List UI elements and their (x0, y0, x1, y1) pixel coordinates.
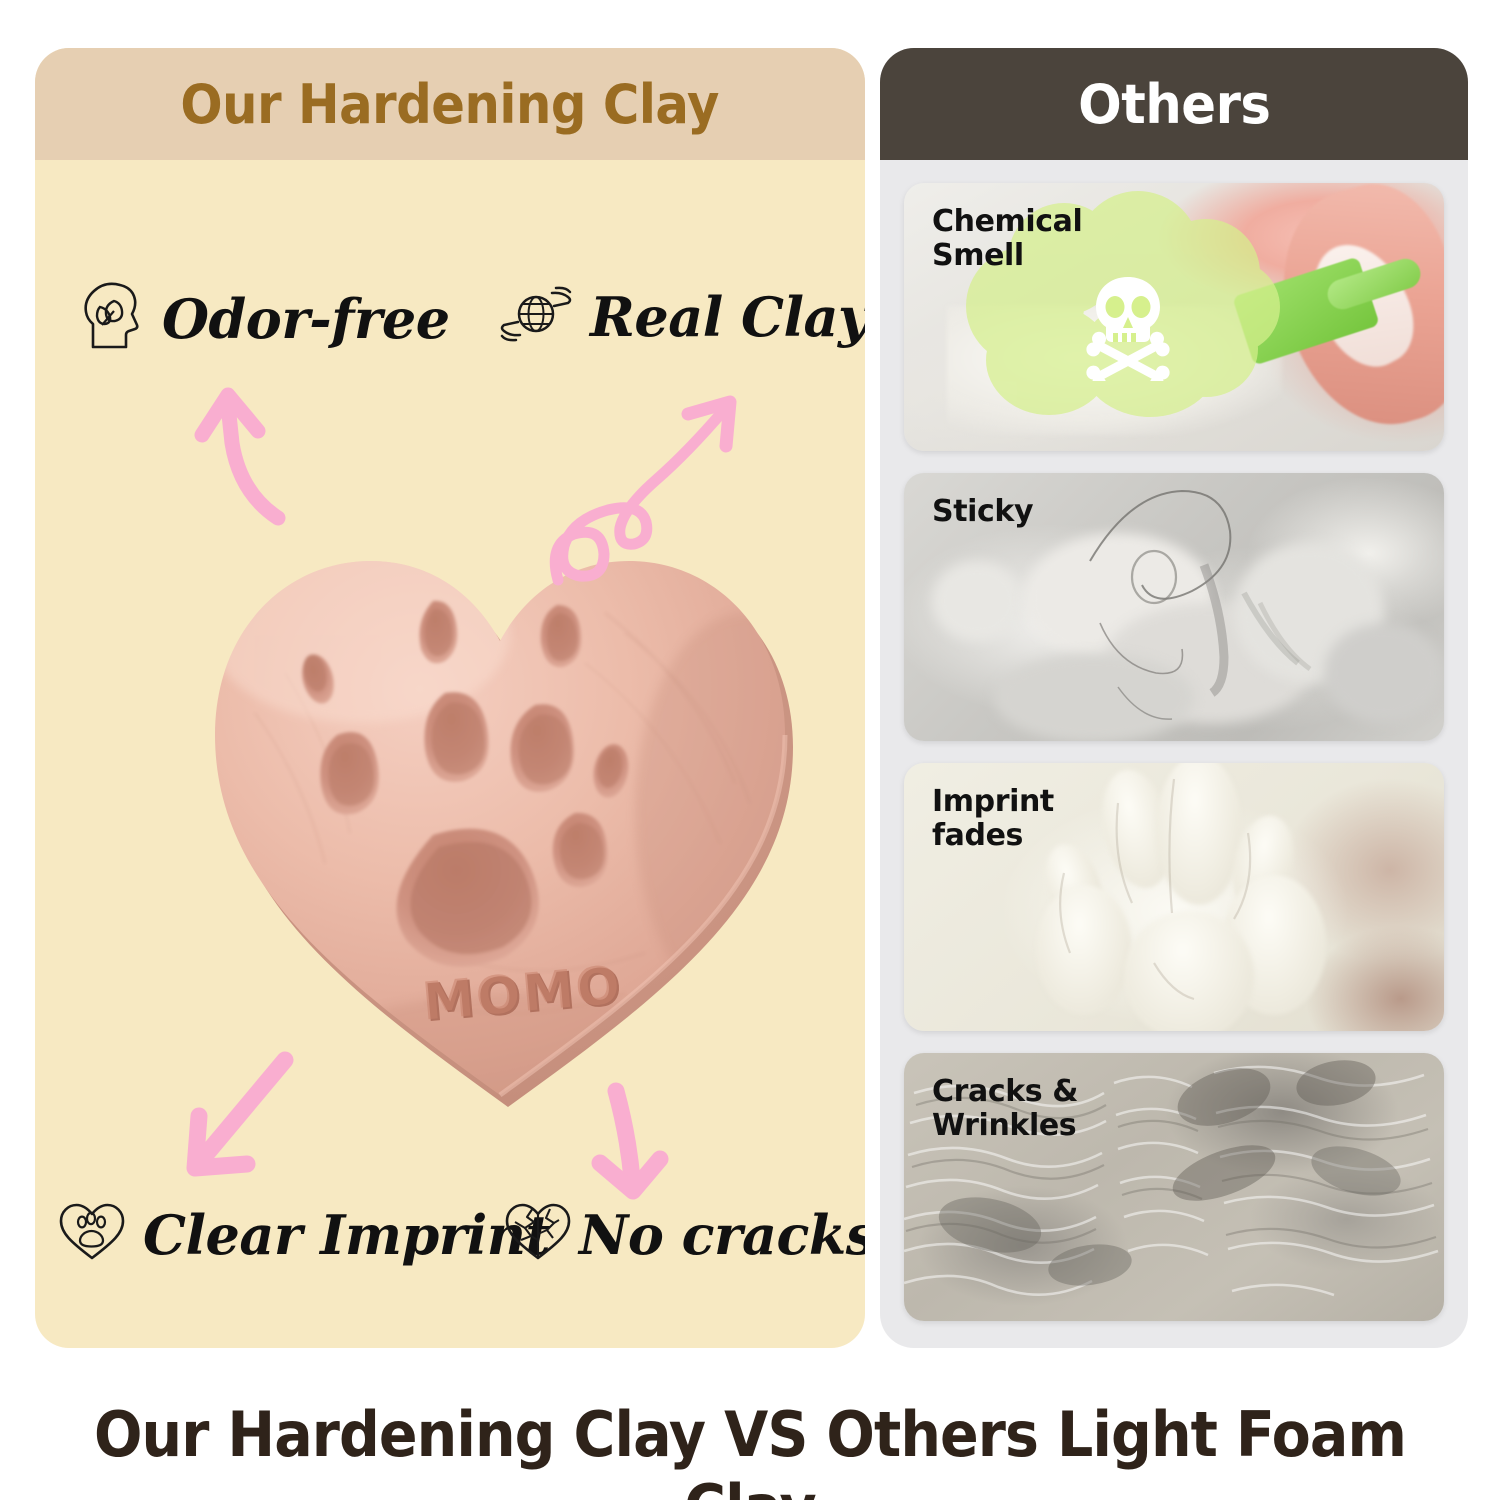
feature-odor-free: Odor-free (80, 281, 450, 356)
bottom-caption: Our Hardening Clay VS Others Light Foam … (60, 1398, 1440, 1500)
card-caption: Sticky (932, 495, 1033, 529)
arrow-to-real-clay (530, 368, 770, 593)
other-card-cracks-wrinkles: Cracks & Wrinkles (904, 1053, 1444, 1321)
skull-and-crossbones-icon (1082, 271, 1174, 381)
feature-label: Clear Imprint (143, 1203, 550, 1267)
card-caption: Cracks & Wrinkles (932, 1075, 1078, 1142)
arrow-to-clear-imprint (155, 1038, 335, 1203)
infographic-root: Our Hardening Clay Odor-free (0, 0, 1500, 1500)
right-panel-header: Others (880, 48, 1468, 160)
head-leaf-icon (80, 281, 146, 356)
paw-heart-icon (57, 1200, 127, 1269)
other-card-sticky: Sticky (904, 473, 1444, 741)
left-panel-header: Our Hardening Clay (35, 48, 865, 160)
feature-label: Real Clay (590, 285, 865, 349)
other-card-imprint-fades: Imprint fades (904, 763, 1444, 1031)
right-panel: Others (880, 48, 1468, 1348)
other-card-chemical-smell: Chemical Smell (904, 183, 1444, 451)
feature-real-clay: Real Clay (498, 281, 865, 352)
left-panel-title: Our Hardening Clay (181, 73, 719, 136)
right-panel-title: Others (1078, 73, 1270, 136)
card-caption: Imprint fades (932, 785, 1054, 852)
arrow-to-odor-free (160, 373, 350, 538)
arrow-to-no-cracks (570, 1073, 730, 1218)
left-panel: Our Hardening Clay Odor-free (35, 48, 865, 1348)
feature-label: Odor-free (162, 287, 450, 351)
globe-in-hands-icon (498, 281, 574, 352)
feature-clear-imprint: Clear Imprint (57, 1200, 550, 1269)
card-caption: Chemical Smell (932, 205, 1082, 272)
cracked-heart-icon (503, 1200, 573, 1269)
